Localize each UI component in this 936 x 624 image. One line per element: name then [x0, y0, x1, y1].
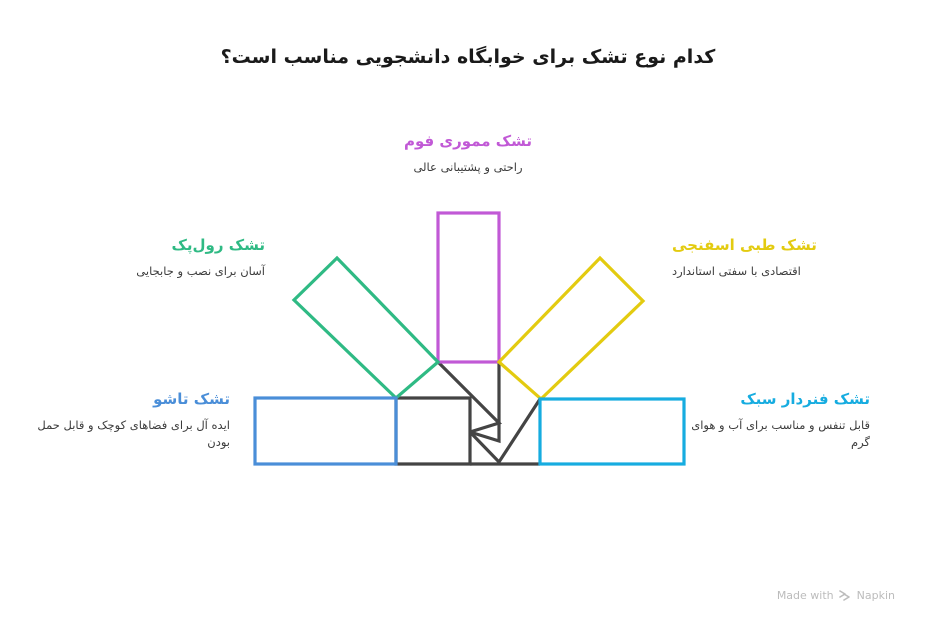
- napkin-watermark: Made with Napkin: [745, 589, 895, 602]
- node-shape-folding: [255, 398, 396, 464]
- node-title-folding: تشک تاشو: [20, 390, 230, 410]
- node-title-sponge-orthopedic: تشک طبی اسفنجی: [672, 236, 912, 256]
- node-desc-sponge-orthopedic: اقتصادی با سفتی استاندارد: [672, 263, 912, 281]
- node-shape-light-spring: [540, 399, 684, 464]
- node-title-memory-foam: تشک مموری فوم: [318, 132, 618, 152]
- node-desc-memory-foam: راحتی و پشتیبانی عالی: [318, 159, 618, 177]
- node-desc-folding: ایده آل برای فضاهای کوچک و قابل حمل بودن: [20, 417, 230, 453]
- node-title-roll-pack: تشک رول‌پک: [30, 236, 265, 256]
- node-label-light-spring: تشک فنردار سبک قابل تنفس و مناسب برای آب…: [672, 390, 870, 452]
- node-shape-roll-pack: [294, 258, 438, 398]
- node-title-light-spring: تشک فنردار سبک: [672, 390, 870, 410]
- node-label-folding: تشک تاشو ایده آل برای فضاهای کوچک و قابل…: [20, 390, 230, 452]
- node-desc-light-spring: قابل تنفس و مناسب برای آب و هوای گرم: [672, 417, 870, 453]
- node-label-roll-pack: تشک رول‌پک آسان برای نصب و جابجایی: [30, 236, 265, 280]
- mattress-radial-diagram: [0, 0, 936, 624]
- diagram-canvas: کدام نوع تشک برای خوابگاه دانشجویی مناسب…: [0, 0, 936, 624]
- node-label-sponge-orthopedic: تشک طبی اسفنجی اقتصادی با سفتی استاندارد: [672, 236, 912, 280]
- node-desc-roll-pack: آسان برای نصب و جابجایی: [30, 263, 265, 281]
- node-shape-memory-foam: [438, 213, 499, 362]
- node-label-memory-foam: تشک مموری فوم راحتی و پشتیبانی عالی: [318, 132, 618, 176]
- made-with-label: Made with: [777, 589, 834, 602]
- node-shape-sponge-orthopedic: [499, 258, 643, 399]
- napkin-brand-label: Napkin: [857, 589, 895, 602]
- napkin-chevrons-icon: [839, 590, 852, 601]
